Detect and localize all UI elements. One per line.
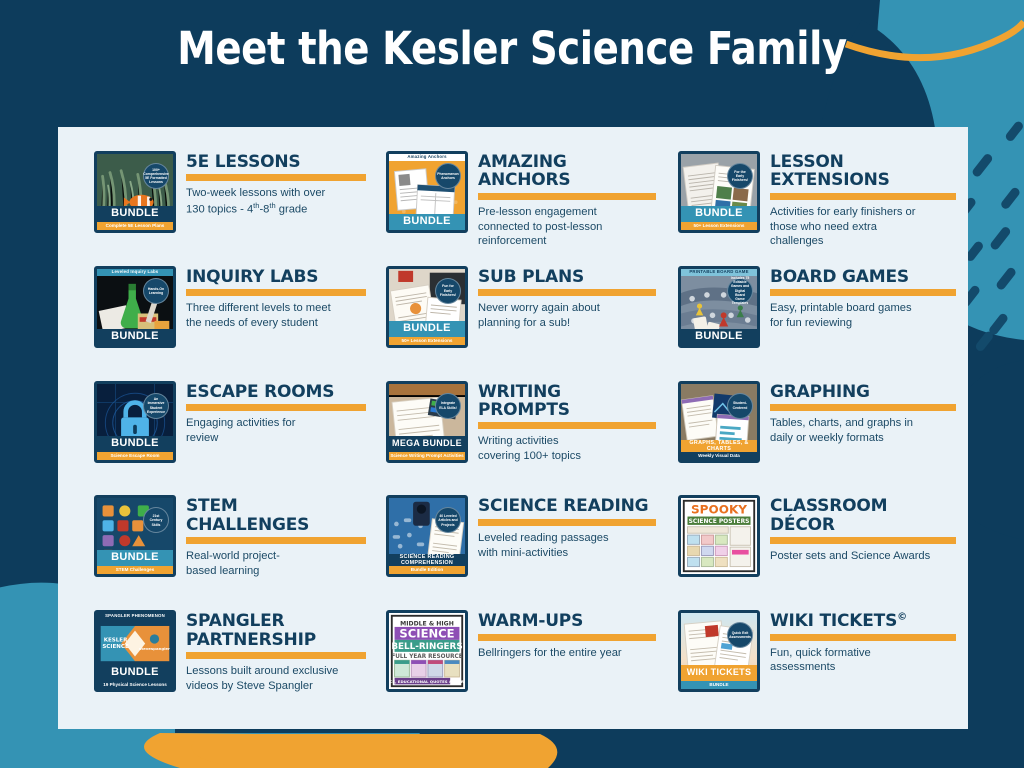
svg-text:SCIENCE: SCIENCE <box>399 627 454 641</box>
thumbnail-bundle-label: BUNDLE <box>97 550 173 566</box>
title-underline-rule <box>186 404 366 411</box>
product-thumbnail[interactable]: Amazing AnchorsPhenomenon AnchorsBUNDLE <box>386 151 468 233</box>
thumbnail-badge: Includes 75 Editable Games and Digital B… <box>727 278 753 304</box>
product-title: WARM-UPS <box>478 612 656 630</box>
product-card[interactable]: Fun for Early Finishers!BUNDLE50+ Lesson… <box>372 260 662 375</box>
product-thumbnail[interactable]: 100+ Comprehensive 5E Formatted LessonsB… <box>94 151 176 233</box>
product-thumbnail[interactable]: SPOOKY SCIENCE POSTERS <box>678 495 760 577</box>
product-info: SUB PLANSNever worry again aboutplanning… <box>478 262 656 331</box>
product-card[interactable]: 100+ Comprehensive 5E Formatted LessonsB… <box>72 145 372 260</box>
thumbnail-bundle-label: BUNDLE <box>97 665 173 681</box>
product-info: LESSON EXTENSIONSActivities for early fi… <box>770 147 956 249</box>
product-info: STEM CHALLENGESReal-world project-based … <box>186 491 366 578</box>
title-underline-rule <box>770 193 956 200</box>
title-underline-rule <box>478 519 656 526</box>
product-info: SCIENCE READINGLeveled reading passagesw… <box>478 491 656 560</box>
thumbnail-bundle-label: BUNDLE <box>97 329 173 345</box>
thumbnail-bundle-label: WIKI TICKETS <box>681 665 757 681</box>
product-description: Three different levels to meetthe needs … <box>186 301 366 331</box>
product-title: SUB PLANS <box>478 268 656 286</box>
product-card[interactable]: PRINTABLE BOARD GAMEIncludes 75 Editable… <box>662 260 962 375</box>
thumbnail-bundle-label: BUNDLE <box>97 436 173 452</box>
product-card[interactable]: Student-CenteredGRAPHS, TABLES, & CHARTS… <box>662 375 962 490</box>
title-underline-rule <box>770 404 956 411</box>
title-underline-rule <box>770 289 956 296</box>
product-thumbnail[interactable]: Quick Exit AssessmentsWIKI TICKETSBUNDLE <box>678 610 760 692</box>
product-card[interactable]: Integrate ELA Skills!MEGA BUNDLEScience … <box>372 375 662 490</box>
thumbnail-badge: Fun for Early Finishers! <box>435 278 461 304</box>
svg-text:FULL YEAR RESOURCE: FULL YEAR RESOURCE <box>391 654 462 660</box>
thumbnail-substrip-label: Bundle Edition <box>389 566 465 574</box>
product-thumbnail[interactable]: Leveled Inquiry LabsHands-On LearningBUN… <box>94 266 176 348</box>
product-card[interactable]: An Immersive Student ExperienceBUNDLESci… <box>72 375 372 490</box>
title-underline-rule <box>478 422 656 429</box>
product-description: Easy, printable board gamesfor fun revie… <box>770 301 956 331</box>
svg-text:SCIENCE POSTERS: SCIENCE POSTERS <box>689 518 750 525</box>
product-card[interactable]: Quick Exit AssessmentsWIKI TICKETSBUNDLE… <box>662 604 962 719</box>
thumbnail-substrip-label: Complete 5E Lesson Plans <box>97 222 173 230</box>
product-title: SCIENCE READING <box>478 497 656 515</box>
product-info: INQUIRY LABSThree different levels to me… <box>186 262 366 331</box>
product-card[interactable]: 40 Leveled Articles and ProjectsSCIENCE … <box>372 489 662 604</box>
product-thumbnail[interactable]: Integrate ELA Skills!MEGA BUNDLEScience … <box>386 381 468 463</box>
thumbnail-top-band: Amazing Anchors <box>389 154 465 161</box>
svg-text:SPOOKY: SPOOKY <box>691 503 747 517</box>
product-description: Poster sets and Science Awards <box>770 549 956 564</box>
product-description: Pre-lesson engagementconnected to post-l… <box>478 205 656 249</box>
thumbnail-top-band: SPANGLER PHENOMENON <box>97 613 173 620</box>
product-thumbnail[interactable]: An Immersive Student ExperienceBUNDLESci… <box>94 381 176 463</box>
product-title: ESCAPE ROOMS <box>186 383 366 401</box>
product-description: Bellringers for the entire year <box>478 646 656 661</box>
thumbnail-badge: 100+ Comprehensive 5E Formatted Lessons <box>143 163 169 189</box>
thumbnail-bundle-label: BUNDLE <box>681 206 757 222</box>
thumbnail-substrip-label: 50+ Lesson Extensions <box>389 337 465 345</box>
thumbnail-badge: An Immersive Student Experience <box>143 393 169 419</box>
thumbnail-substrip-label: Science Writing Prompt Activities <box>389 452 465 460</box>
product-card[interactable]: SPOOKY SCIENCE POSTERS <box>662 489 962 604</box>
bottom-orange-blob-2 <box>192 734 558 768</box>
product-title: CLASSROOM DÉCOR <box>770 497 956 534</box>
product-description: Real-world project-based learning <box>186 549 366 579</box>
product-description: Never worry again aboutplanning for a su… <box>478 301 656 331</box>
product-description: Tables, charts, and graphs indaily or we… <box>770 416 956 446</box>
product-thumbnail[interactable]: 21st Century SkillsBUNDLESTEM Challenges <box>94 495 176 577</box>
thumbnail-badge: Phenomenon Anchors <box>435 163 461 189</box>
thumbnail-badge: Integrate ELA Skills! <box>435 393 461 419</box>
product-info: ESCAPE ROOMSEngaging activities forrevie… <box>186 377 366 446</box>
product-card[interactable]: For the Early Finishers!BUNDLE50+ Lesson… <box>662 145 962 260</box>
title-underline-rule <box>186 174 366 181</box>
svg-text:stevespangler: stevespangler <box>139 646 170 651</box>
product-thumbnail[interactable]: 40 Leveled Articles and ProjectsSCIENCE … <box>386 495 468 577</box>
product-title: LESSON EXTENSIONS <box>770 153 956 190</box>
product-description: Writing activitiescovering 100+ topics <box>478 434 656 464</box>
product-title: 5E LESSONS <box>186 153 366 171</box>
product-thumbnail[interactable]: Fun for Early Finishers!BUNDLE50+ Lesson… <box>386 266 468 348</box>
thumbnail-bundle-label: BUNDLE <box>97 206 173 222</box>
product-card[interactable]: 21st Century SkillsBUNDLESTEM Challenges… <box>72 489 372 604</box>
product-card[interactable]: KESLER SCIENCE stevespangler SPANGLER PH… <box>72 604 372 719</box>
content-panel: 100+ Comprehensive 5E Formatted LessonsB… <box>58 127 968 729</box>
page-title: Meet the Kesler Science Family <box>72 22 953 75</box>
title-underline-rule <box>770 634 956 641</box>
product-info: 5E LESSONSTwo-week lessons with over130 … <box>186 147 366 218</box>
thumbnail-bundle-label: GRAPHS, TABLES, & CHARTS <box>681 440 757 452</box>
thumbnail-substrip-label: STEM Challenges <box>97 566 173 574</box>
thumbnail-badge: Quick Exit Assessments <box>727 622 753 648</box>
svg-text:BELL-RINGERS: BELL-RINGERS <box>391 642 462 652</box>
product-info: SPANGLER PARTNERSHIPLessons built around… <box>186 606 366 693</box>
thumbnail-substrip-label: 19 Physical Science Lessons <box>97 681 173 689</box>
product-info: WRITING PROMPTSWriting activitiescoverin… <box>478 377 656 464</box>
title-underline-rule <box>770 537 956 544</box>
thumbnail-badge: Student-Centered <box>727 393 753 419</box>
product-description: Leveled reading passageswith mini-activi… <box>478 531 656 561</box>
title-underline-rule <box>186 537 366 544</box>
product-info: AMAZING ANCHORSPre-lesson engagementconn… <box>478 147 656 249</box>
thumbnail-bundle-label: BUNDLE <box>681 329 757 345</box>
thumbnail-substrip-label: BUNDLE <box>681 681 757 689</box>
thumbnail-badge: For the Early Finishers! <box>727 163 753 189</box>
thumbnail-substrip-label: Weekly Visual Data <box>681 452 757 460</box>
product-info: BOARD GAMESEasy, printable board gamesfo… <box>770 262 956 331</box>
svg-text:SCIENCE: SCIENCE <box>102 644 129 650</box>
title-underline-rule <box>478 634 656 641</box>
title-underline-rule <box>186 652 366 659</box>
product-thumbnail[interactable]: KESLER SCIENCE stevespangler SPANGLER PH… <box>94 610 176 692</box>
product-card[interactable]: Amazing AnchorsPhenomenon AnchorsBUNDLEA… <box>372 145 662 260</box>
thumbnail-bundle-label: BUNDLE <box>389 321 465 337</box>
product-info: GRAPHINGTables, charts, and graphs indai… <box>770 377 956 446</box>
product-thumbnail[interactable]: MIDDLE & HIGH SCIENCE BELL-RINGERS FULL … <box>386 610 468 692</box>
product-description: Fun, quick formativeassessments <box>770 646 956 676</box>
product-thumbnail[interactable]: PRINTABLE BOARD GAMEIncludes 75 Editable… <box>678 266 760 348</box>
thumbnail-bundle-label: BUNDLE <box>389 214 465 230</box>
thumbnail-top-band: PRINTABLE BOARD GAME <box>681 269 757 276</box>
product-card[interactable]: Leveled Inquiry LabsHands-On LearningBUN… <box>72 260 372 375</box>
product-thumbnail[interactable]: Student-CenteredGRAPHS, TABLES, & CHARTS… <box>678 381 760 463</box>
product-title: AMAZING ANCHORS <box>478 153 656 190</box>
title-underline-rule <box>186 289 366 296</box>
copyright-superscript: © <box>897 612 907 623</box>
product-info: WIKI TICKETS©Fun, quick formativeassessm… <box>770 606 956 675</box>
product-title: INQUIRY LABS <box>186 268 366 286</box>
product-description: Activities for early finishers orthose w… <box>770 205 956 249</box>
product-title: SPANGLER PARTNERSHIP <box>186 612 366 649</box>
product-description: Two-week lessons with over130 topics - 4… <box>186 186 366 217</box>
product-description: Lessons built around exclusivevideos by … <box>186 664 366 694</box>
title-underline-rule <box>478 289 656 296</box>
product-thumbnail[interactable]: For the Early Finishers!BUNDLE50+ Lesson… <box>678 151 760 233</box>
thumbnail-top-band: Leveled Inquiry Labs <box>97 269 173 276</box>
thumbnail-bundle-label: MEGA BUNDLE <box>389 436 465 452</box>
product-title: GRAPHING <box>770 383 956 401</box>
product-card[interactable]: MIDDLE & HIGH SCIENCE BELL-RINGERS FULL … <box>372 604 662 719</box>
product-title: WIKI TICKETS© <box>770 612 956 630</box>
product-title: BOARD GAMES <box>770 268 956 286</box>
thumbnail-substrip-label: Science Escape Room <box>97 452 173 460</box>
product-description: Engaging activities forreview <box>186 416 366 446</box>
product-title: WRITING PROMPTS <box>478 383 656 420</box>
product-info: WARM-UPSBellringers for the entire year <box>478 606 656 660</box>
svg-text:KESLER: KESLER <box>104 638 128 644</box>
product-title: STEM CHALLENGES <box>186 497 366 534</box>
thumbnail-bundle-label: SCIENCE READING COMPREHENSION <box>389 554 465 566</box>
product-info: CLASSROOM DÉCORPoster sets and Science A… <box>770 491 956 564</box>
thumbnail-substrip-label: 50+ Lesson Extensions <box>681 222 757 230</box>
thumbnail-badge: Hands-On Learning <box>143 278 169 304</box>
product-grid: 100+ Comprehensive 5E Formatted LessonsB… <box>72 145 954 719</box>
svg-text:SCIENCE, EDUCATIONAL QUOTES &: SCIENCE, EDUCATIONAL QUOTES & MORE! <box>389 679 465 684</box>
title-underline-rule <box>478 193 656 200</box>
